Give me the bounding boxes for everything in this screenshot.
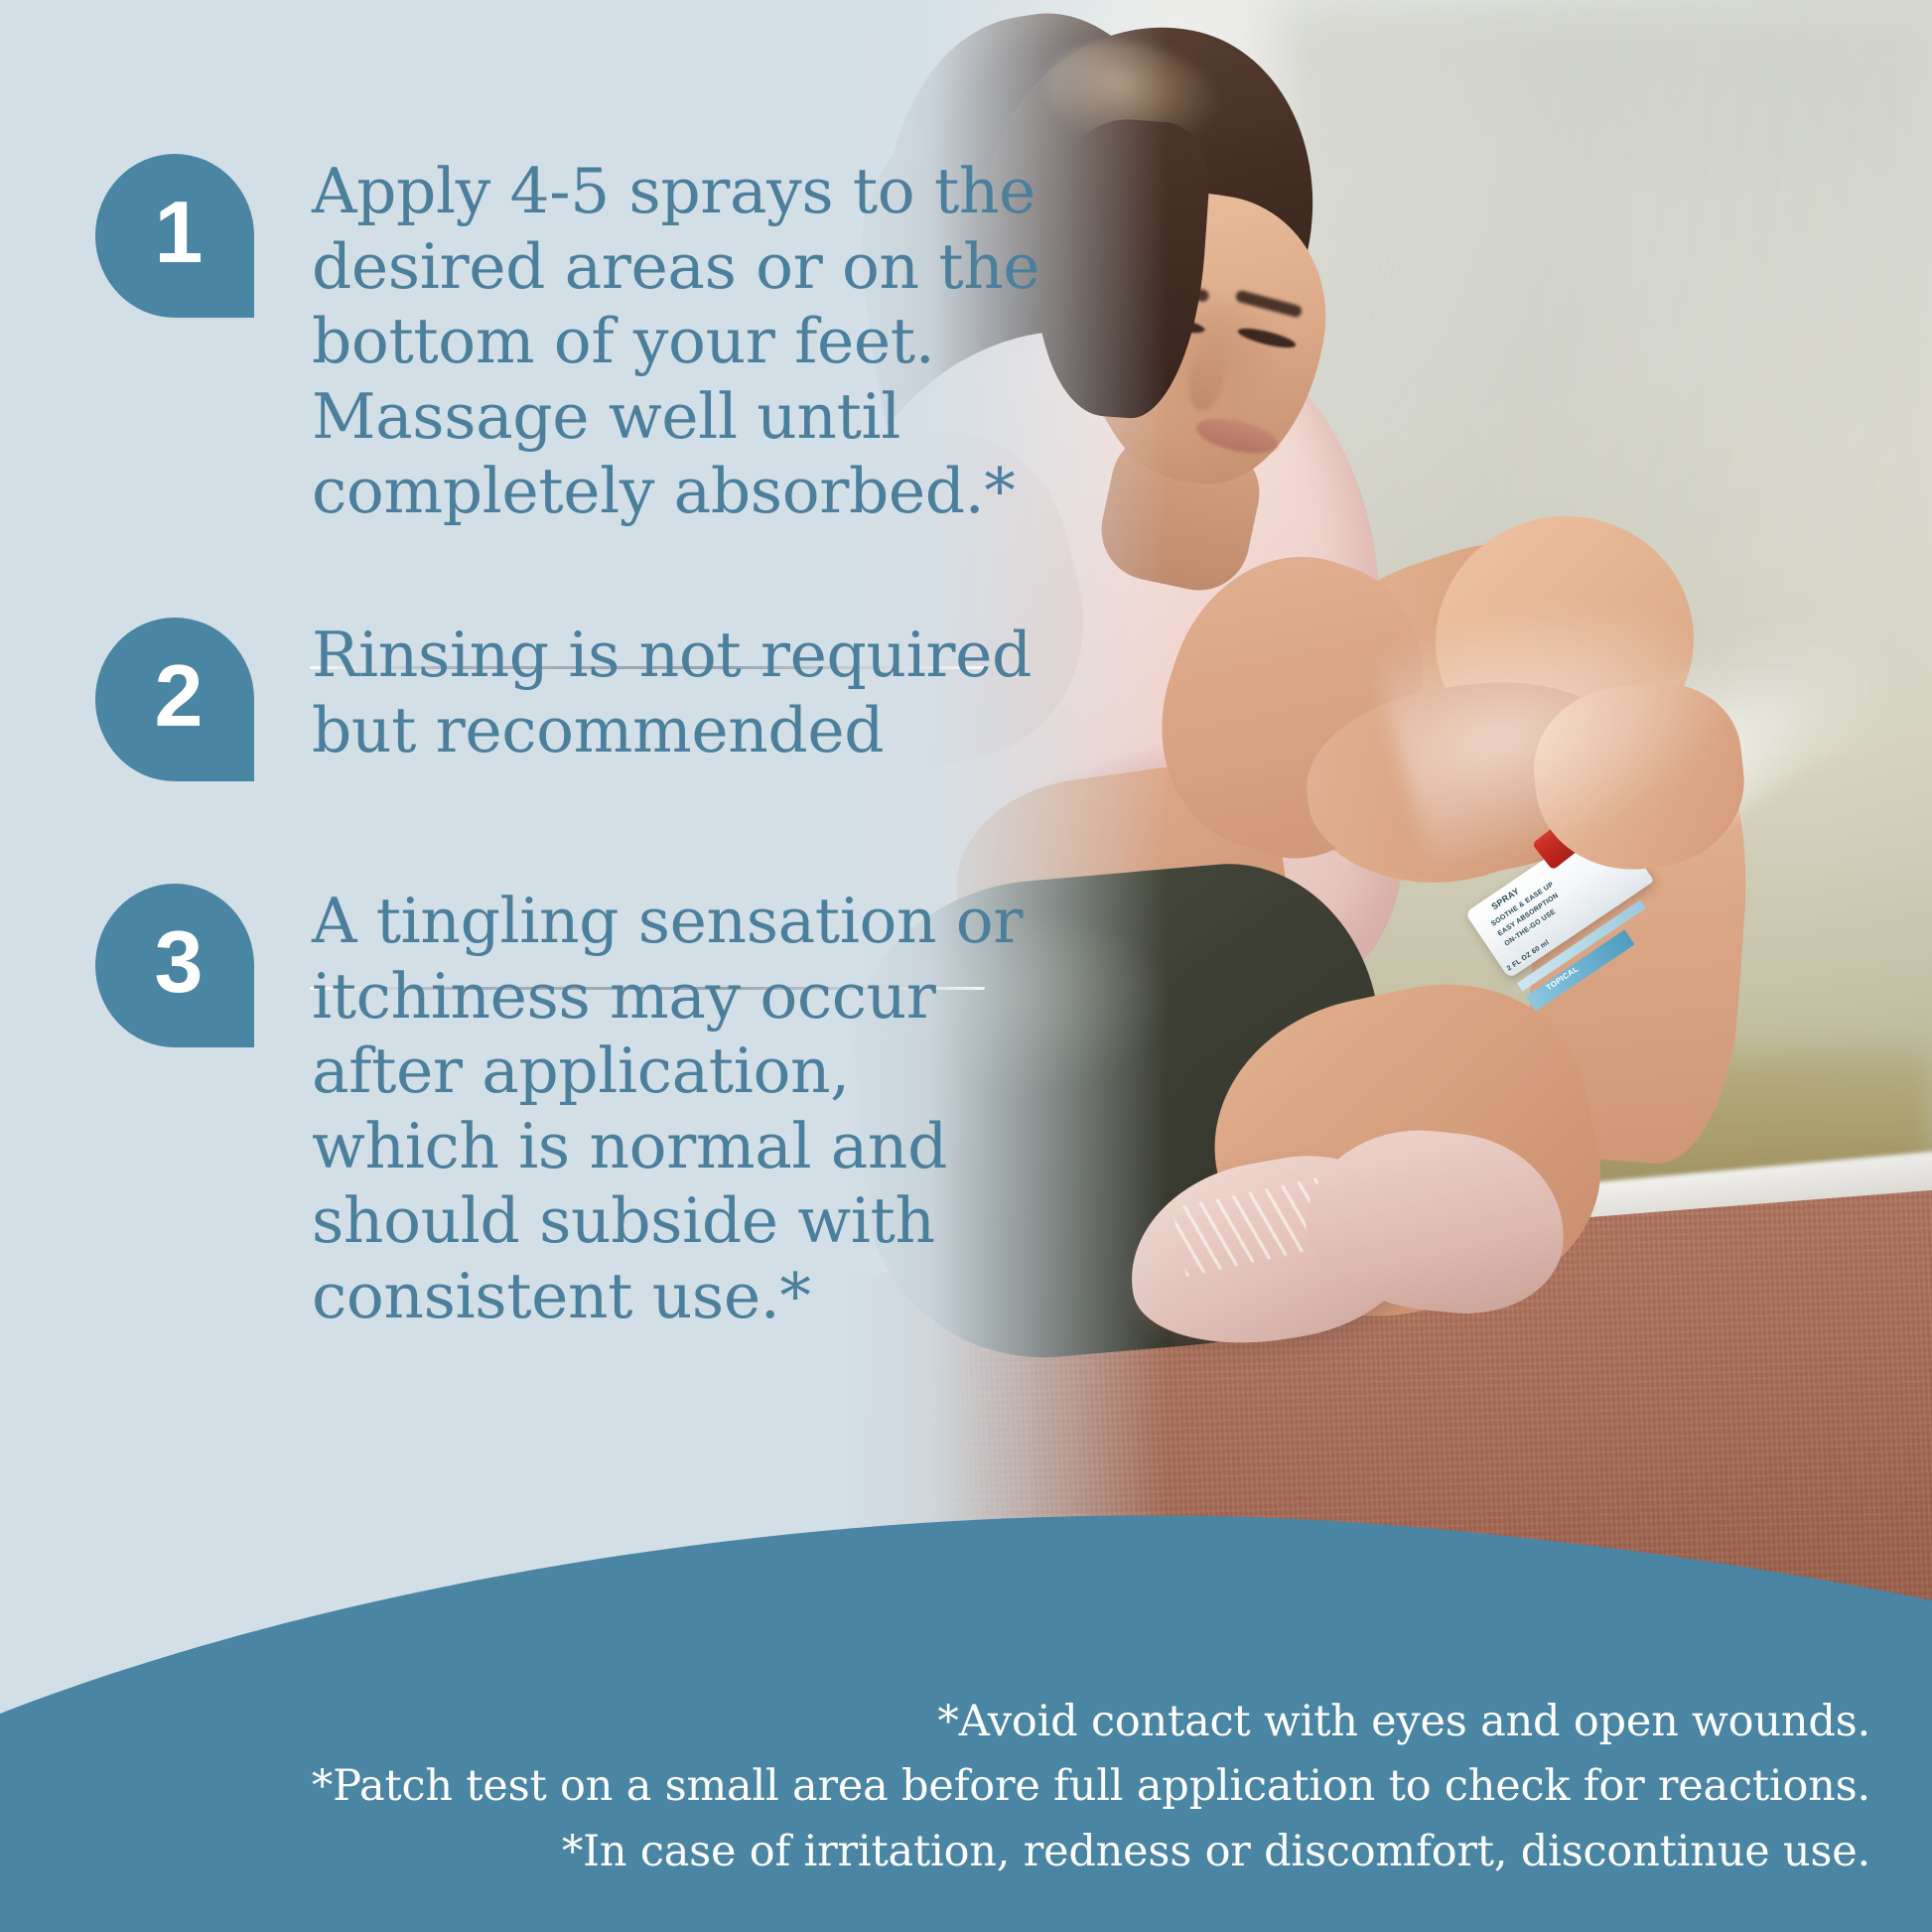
step-text-2: Rinsing is not required but recommended [312, 618, 1042, 767]
footer-line-1: *Avoid contact with eyes and open wounds… [0, 1690, 1870, 1754]
step-item-3: 3 A tingling sensation or itchiness may … [95, 884, 1042, 1334]
step-item-2: 2 Rinsing is not required but recommende… [95, 618, 1042, 781]
step-item-1: 1 Apply 4-5 sprays to the desired areas … [95, 154, 1042, 529]
step-number-1: 1 [155, 189, 204, 276]
footer-wave-panel: *Avoid contact with eyes and open wounds… [0, 1515, 1932, 1932]
step-badge-3: 3 [95, 884, 254, 1047]
poster-canvas: SPRAY SOOTHE & EASE UP EASY ABSORPTION O… [0, 0, 1932, 1932]
step-number-2: 2 [155, 652, 204, 740]
step-badge-2: 2 [95, 618, 254, 781]
step-text-1: Apply 4-5 sprays to the desired areas or… [312, 154, 1042, 529]
footer-disclaimers: *Avoid contact with eyes and open wounds… [0, 1690, 1932, 1884]
step-text-3: A tingling sensation or itchiness may oc… [312, 884, 1042, 1334]
step-number-3: 3 [155, 918, 204, 1006]
step-badge-1: 1 [95, 154, 254, 318]
footer-line-3: *In case of irritation, redness or disco… [0, 1820, 1870, 1884]
footer-line-2: *Patch test on a small area before full … [0, 1754, 1870, 1819]
